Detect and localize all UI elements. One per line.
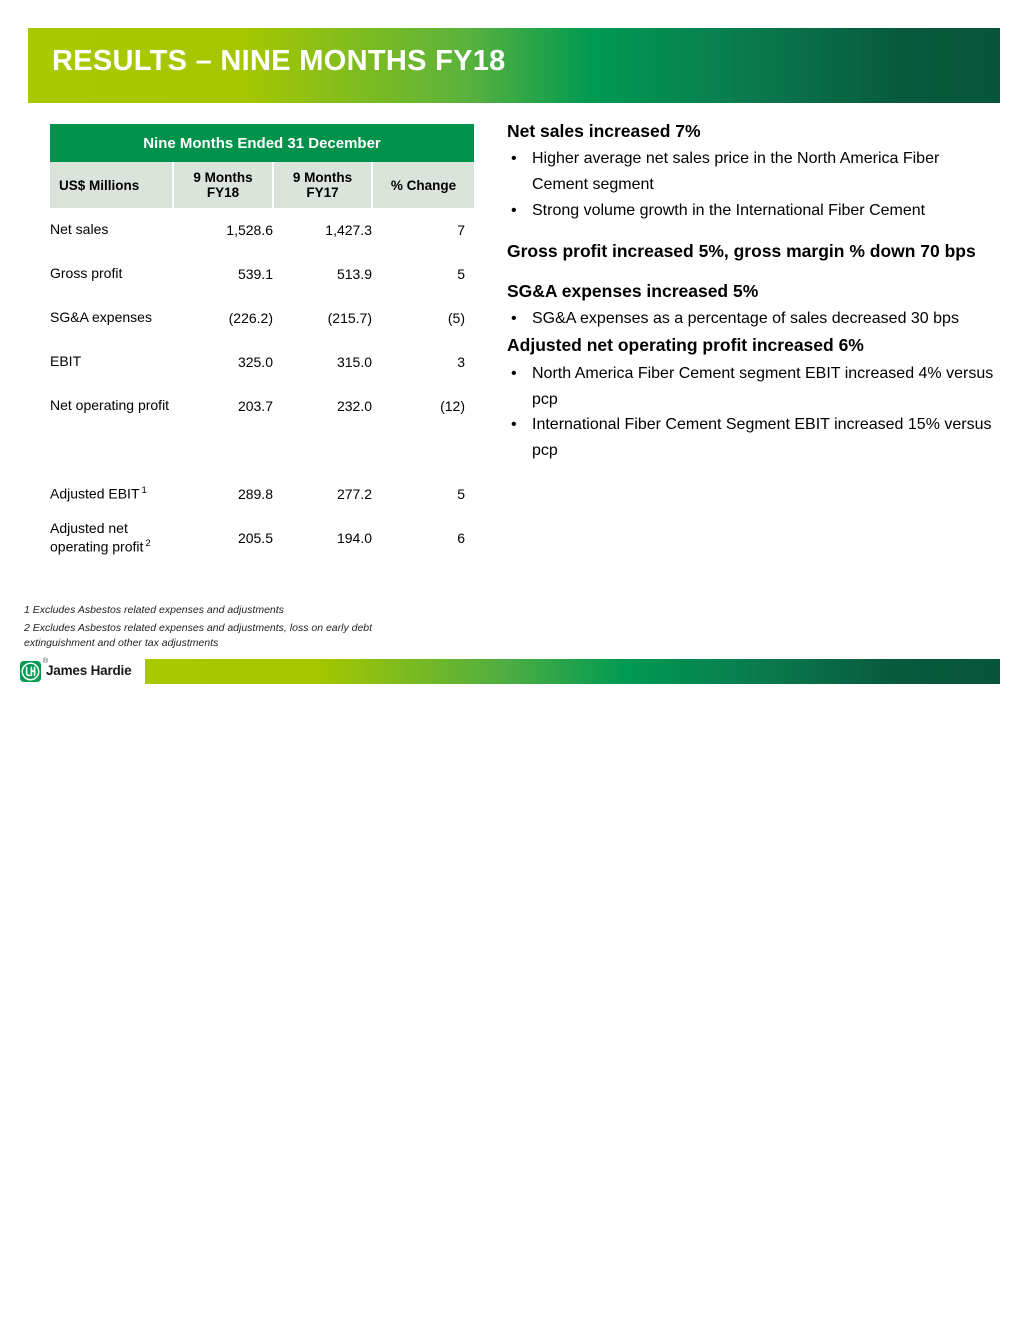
row-value-fy17: 277.2 (273, 472, 372, 516)
table-spacer-row (50, 428, 474, 472)
column-header-fy18: 9 Months FY18 (173, 162, 273, 208)
row-label: Adjusted EBIT1 (50, 472, 173, 516)
row-value-change: (5) (372, 296, 474, 340)
row-value-fy18: 205.5 (173, 516, 273, 560)
commentary-heading-net-sales: Net sales increased 7% (507, 118, 997, 144)
column-header-fy18-line2: FY18 (207, 185, 239, 200)
table-row: SG&A expenses (226.2) (215.7) (5) (50, 296, 474, 340)
row-label-text: Adjusted EBIT (50, 486, 140, 502)
brand-name: James Hardie (46, 663, 131, 678)
row-value-fy18: 203.7 (173, 384, 273, 428)
commentary-bullet: • International Fiber Cement Segment EBI… (507, 412, 997, 464)
row-value-fy17: 513.9 (273, 252, 372, 296)
table-row: EBIT 325.0 315.0 3 (50, 340, 474, 384)
row-value-fy18: 1,528.6 (173, 208, 273, 252)
footnote-2: 2 Excludes Asbestos related expenses and… (24, 621, 424, 651)
row-value-change: 7 (372, 208, 474, 252)
row-label: Net sales (50, 208, 173, 252)
row-value-change: 5 (372, 252, 474, 296)
bullet-icon: • (511, 361, 517, 387)
page-title: RESULTS – NINE MONTHS FY18 (52, 45, 506, 78)
column-header-fy17: 9 Months FY17 (273, 162, 372, 208)
row-value-fy18: (226.2) (173, 296, 273, 340)
table-row: Net operating profit 203.7 232.0 (12) (50, 384, 474, 428)
footer-gradient-bar: PAGE 18 (145, 659, 1000, 684)
commentary-bullet-text: Strong volume growth in the Internationa… (532, 202, 925, 219)
row-value-fy18: 539.1 (173, 252, 273, 296)
row-value-fy17: 194.0 (273, 516, 372, 560)
table-row: Adjusted EBIT1 289.8 277.2 5 (50, 472, 474, 516)
row-value-fy17: 315.0 (273, 340, 372, 384)
table-spacer-cell (50, 428, 474, 472)
row-footnote-marker: 2 (145, 538, 150, 549)
commentary-heading-gross-profit: Gross profit increased 5%, gross margin … (507, 238, 997, 264)
row-label: EBIT (50, 340, 173, 384)
column-header-change-label: % Change (391, 178, 456, 193)
table-caption: Nine Months Ended 31 December (50, 124, 474, 162)
commentary-bullet: • Higher average net sales price in the … (507, 146, 997, 198)
table-row: Net sales 1,528.6 1,427.3 7 (50, 208, 474, 252)
james-hardie-logo-icon (20, 661, 41, 682)
column-header-fy17-line1: 9 Months (293, 170, 352, 185)
row-value-fy17: 232.0 (273, 384, 372, 428)
bullet-icon: • (511, 412, 517, 438)
row-value-change: 3 (372, 340, 474, 384)
column-header-fy18-line1: 9 Months (193, 170, 252, 185)
row-label: Net operating profit (50, 384, 173, 428)
column-header-change: % Change (372, 162, 474, 208)
row-value-fy17: (215.7) (273, 296, 372, 340)
commentary-bullet: • SG&A expenses as a percentage of sales… (507, 306, 997, 332)
row-footnote-marker: 1 (142, 485, 147, 496)
commentary-bullet-text: International Fiber Cement Segment EBIT … (532, 416, 992, 459)
row-value-change: 6 (372, 516, 474, 560)
row-label: Gross profit (50, 252, 173, 296)
page-number: PAGE 18 (926, 1322, 982, 1336)
commentary-heading-sga: SG&A expenses increased 5% (507, 278, 997, 304)
commentary-heading-adjusted-nop: Adjusted net operating profit increased … (507, 332, 997, 358)
commentary-bullet-text: Higher average net sales price in the No… (532, 150, 939, 193)
bullet-icon: • (511, 306, 517, 332)
column-header-metric: US$ Millions (50, 162, 173, 208)
commentary-bullet-text: SG&A expenses as a percentage of sales d… (532, 310, 959, 327)
column-header-fy17-line2: FY17 (306, 185, 338, 200)
footnote-1: 1 Excludes Asbestos related expenses and… (24, 603, 424, 618)
row-value-fy18: 325.0 (173, 340, 273, 384)
commentary-bullet: • Strong volume growth in the Internatio… (507, 198, 997, 224)
column-header-metric-label: US$ Millions (59, 178, 139, 193)
row-value-change: (12) (372, 384, 474, 428)
row-value-fy17: 1,427.3 (273, 208, 372, 252)
financial-table: Nine Months Ended 31 December US$ Millio… (50, 124, 474, 560)
bullet-icon: • (511, 198, 517, 224)
commentary-bullet-text: North America Fiber Cement segment EBIT … (532, 365, 993, 408)
commentary-bullet: • North America Fiber Cement segment EBI… (507, 361, 997, 413)
row-value-change: 5 (372, 472, 474, 516)
row-label-text: Adjusted net operating profit (50, 520, 143, 554)
bullet-icon: • (511, 146, 517, 172)
table-row: Gross profit 539.1 513.9 5 (50, 252, 474, 296)
footnotes: 1 Excludes Asbestos related expenses and… (24, 603, 424, 655)
row-label: SG&A expenses (50, 296, 173, 340)
table-header-row: US$ Millions 9 Months FY18 9 Months FY17… (50, 162, 474, 208)
commentary-panel: Net sales increased 7% • Higher average … (507, 118, 997, 464)
row-label: Adjusted net operating profit2 (50, 516, 173, 560)
table-row: Adjusted net operating profit2 205.5 194… (50, 516, 474, 560)
row-value-fy18: 289.8 (173, 472, 273, 516)
